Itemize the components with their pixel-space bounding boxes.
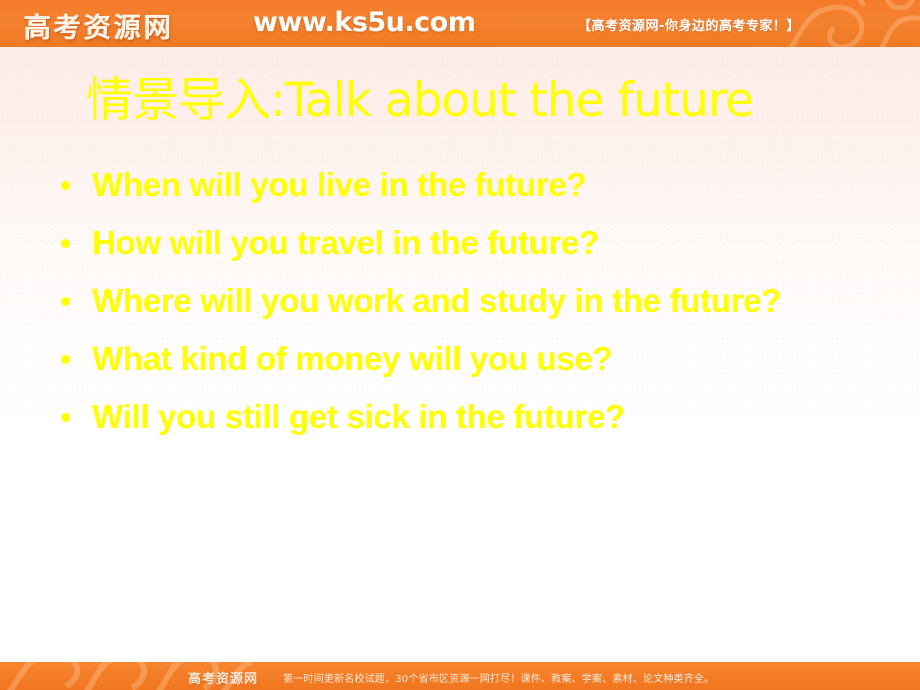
site-slogan-text: 【高考资源网-你身边的高考专家！】 — [578, 15, 800, 34]
site-logo-text: 高考资源网 — [24, 6, 174, 45]
list-item-label: When will you live in the future? — [92, 166, 586, 203]
bullet-dot-icon — [61, 181, 70, 190]
footer-logo-text: 高考资源网 — [188, 668, 258, 687]
bullet-dot-icon — [61, 297, 70, 306]
page-title: 情景导入:Talk about the future — [86, 72, 886, 130]
bullet-dot-icon — [61, 239, 70, 248]
site-url-text[interactable]: www.ks5u.com — [253, 7, 475, 38]
question-list: When will you live in the future? How wi… — [46, 166, 786, 436]
presentation-slide: 高考资源网 www.ks5u.com 【高考资源网-你身边的高考专家！】 情景导… — [0, 0, 920, 690]
footer-tagline-text: 第一时间更新名校试题，30个省市区资源一网打尽！课件、教案、学案、素材、论文种类… — [283, 670, 714, 685]
list-item-label: Where will you work and study in the fut… — [92, 282, 781, 319]
bullet-dot-icon — [61, 355, 70, 364]
list-item: What kind of money will you use? — [46, 340, 786, 378]
list-item: When will you live in the future? — [46, 166, 786, 204]
list-item-label: What kind of money will you use? — [92, 340, 612, 377]
bullet-dot-icon — [61, 413, 70, 422]
list-item-label: How will you travel in the future? — [92, 224, 599, 261]
site-footer-bar: 高考资源网 第一时间更新名校试题，30个省市区资源一网打尽！课件、教案、学案、素… — [0, 662, 920, 690]
list-item: Where will you work and study in the fut… — [46, 282, 786, 320]
list-item: Will you still get sick in the future? — [46, 398, 786, 436]
list-item: How will you travel in the future? — [46, 224, 786, 262]
site-header-bar: 高考资源网 www.ks5u.com 【高考资源网-你身边的高考专家！】 — [0, 0, 920, 47]
list-item-label: Will you still get sick in the future? — [92, 398, 625, 435]
